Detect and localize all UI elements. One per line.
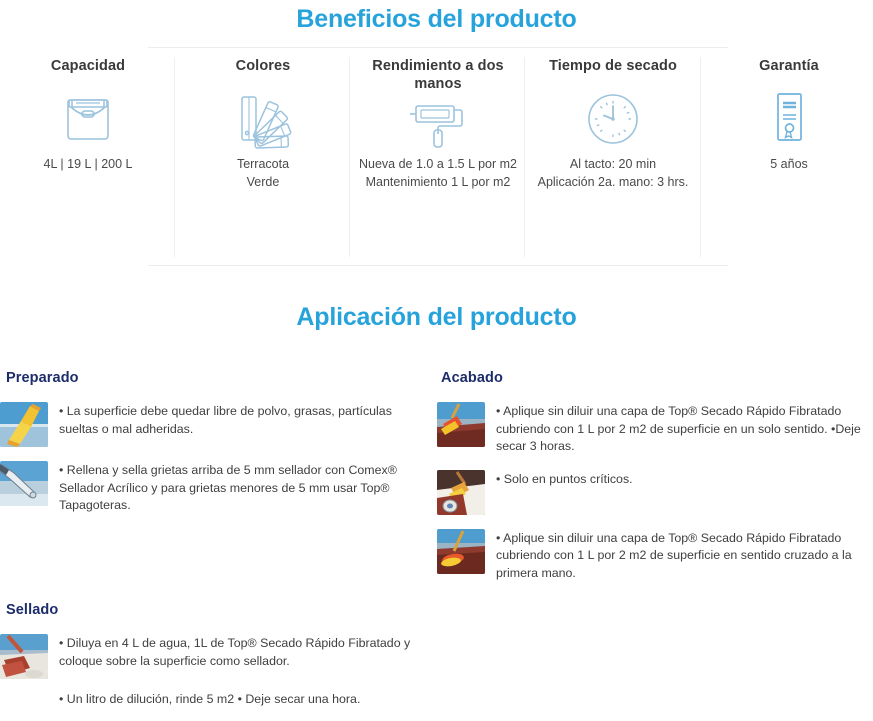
sealer-brush-thumbnail [0, 634, 48, 679]
group-heading: Preparado [6, 370, 436, 386]
benefit-value: Nueva de 1.0 a 1.5 L por m2 Mantenimient… [350, 155, 526, 191]
benefits-band: Capacidad 4L | 19 L | 200 L Colores [0, 47, 873, 266]
group-heading: Acabado [441, 370, 873, 386]
benefit-label: Capacidad [0, 57, 176, 75]
caulk-gun-thumbnail [0, 461, 48, 506]
paint-bucket-icon [0, 83, 176, 155]
roller-second-coat-thumbnail [437, 529, 485, 574]
list-item: • Aplique sin diluir una capa de Top® Se… [437, 400, 873, 456]
list-item: • Solo en puntos críticos. [437, 468, 873, 515]
step-text: • Aplique sin diluir una capa de Top® Se… [496, 527, 873, 583]
list-item: • Un litro de dilución, rinde 5 m2 • Dej… [0, 691, 436, 709]
step-text: • Rellena y sella grietas arriba de 5 mm… [59, 459, 429, 515]
benefit-tiempo-secado: Tiempo de secado Al tacto: 20 min Aplica… [525, 57, 701, 191]
list-item: • Diluya en 4 L de agua, 1L de Top® Seca… [0, 632, 436, 679]
clock-icon [525, 83, 701, 155]
group-heading: Sellado [6, 602, 436, 618]
paint-roller-icon [350, 97, 526, 155]
benefits-section-title: Beneficios del producto [0, 5, 873, 34]
benefit-value: Terracota Verde [175, 155, 351, 191]
benefit-garantia: Garantía 5 años [701, 57, 873, 173]
application-section-title: Aplicación del producto [0, 303, 873, 332]
benefit-label: Tiempo de secado [525, 57, 701, 75]
benefit-value: 5 años [701, 155, 873, 173]
certificate-icon [701, 83, 873, 155]
list-item: • La superficie debe quedar libre de pol… [0, 400, 436, 447]
group-acabado: Acabado • Aplique sin diluir una capa de… [437, 370, 873, 595]
step-text: • Aplique sin diluir una capa de Top® Se… [496, 400, 873, 456]
critical-points-thumbnail [437, 470, 485, 515]
benefit-value: 4L | 19 L | 200 L [0, 155, 176, 173]
benefit-rendimiento: Rendimiento a dos manos Nueva de 1.0 a 1… [350, 57, 526, 192]
benefits-top-divider [148, 47, 728, 48]
roller-first-coat-thumbnail [437, 402, 485, 447]
step-text: • Un litro de dilución, rinde 5 m2 • Dej… [59, 691, 360, 709]
list-item: • Rellena y sella grietas arriba de 5 mm… [0, 459, 436, 515]
benefit-label: Rendimiento a dos manos [350, 57, 526, 93]
benefit-label: Colores [175, 57, 351, 75]
benefit-colores: Colores Terracota Verde [175, 57, 351, 191]
benefit-label: Garantía [701, 57, 873, 75]
benefit-capacidad: Capacidad 4L | 19 L | 200 L [0, 57, 176, 173]
benefits-bottom-divider [148, 265, 728, 266]
group-sellado: Sellado • Diluya en 4 L de agua, 1L de T… [0, 602, 436, 721]
list-item: • Aplique sin diluir una capa de Top® Se… [437, 527, 873, 583]
step-text: • La superficie debe quedar libre de pol… [59, 400, 429, 438]
group-preparado: Preparado • La superficie debe quedar li… [0, 370, 436, 527]
broom-sweeping-thumbnail [0, 402, 48, 447]
benefit-value: Al tacto: 20 min Aplicación 2a. mano: 3 … [525, 155, 701, 191]
step-text: • Diluya en 4 L de agua, 1L de Top® Seca… [59, 632, 436, 670]
color-fan-deck-icon [175, 83, 351, 155]
step-text: • Solo en puntos críticos. [496, 468, 633, 489]
